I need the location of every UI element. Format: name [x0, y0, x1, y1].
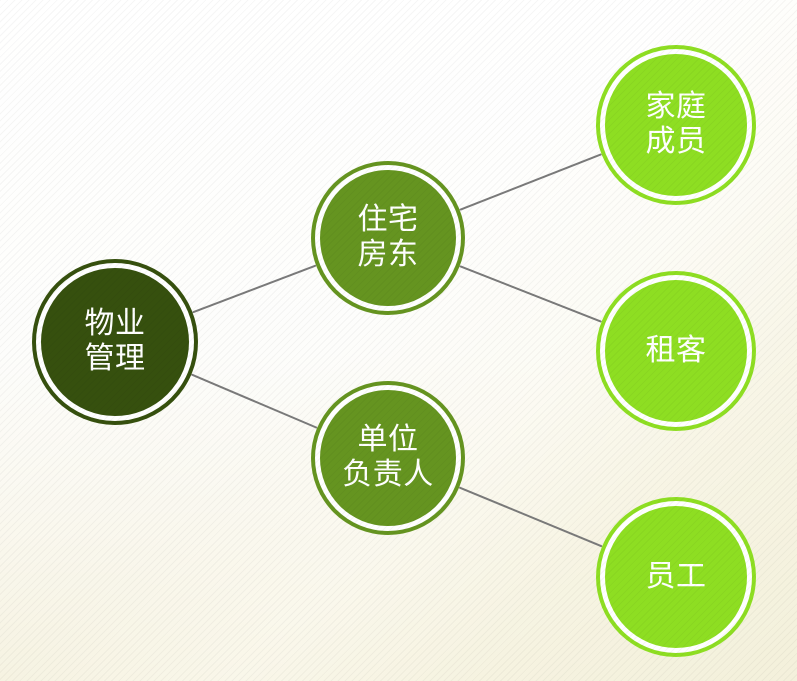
node-label: 员工 — [646, 560, 707, 595]
node-label: 租客 — [646, 334, 707, 369]
node-tenant[interactable]: 租客 — [605, 280, 747, 422]
node-label: 住宅 房东 — [358, 203, 419, 273]
connector-line — [460, 488, 601, 546]
node-employee[interactable]: 员工 — [605, 506, 747, 648]
node-label: 单位 负责人 — [342, 423, 434, 493]
node-unit-manager[interactable]: 单位 负责人 — [320, 390, 456, 526]
connector-line — [461, 266, 601, 321]
connector-line — [461, 155, 601, 210]
node-label: 物业 管理 — [85, 307, 146, 377]
node-root[interactable]: 物业 管理 — [41, 268, 189, 416]
connector-line — [192, 375, 316, 428]
connector-line — [193, 266, 315, 312]
node-label: 家庭 成员 — [646, 90, 707, 160]
node-family-member[interactable]: 家庭 成员 — [605, 54, 747, 196]
node-residential-landlord[interactable]: 住宅 房东 — [320, 170, 456, 306]
diagram-canvas: 物业 管理住宅 房东单位 负责人家庭 成员租客员工 — [0, 0, 797, 681]
